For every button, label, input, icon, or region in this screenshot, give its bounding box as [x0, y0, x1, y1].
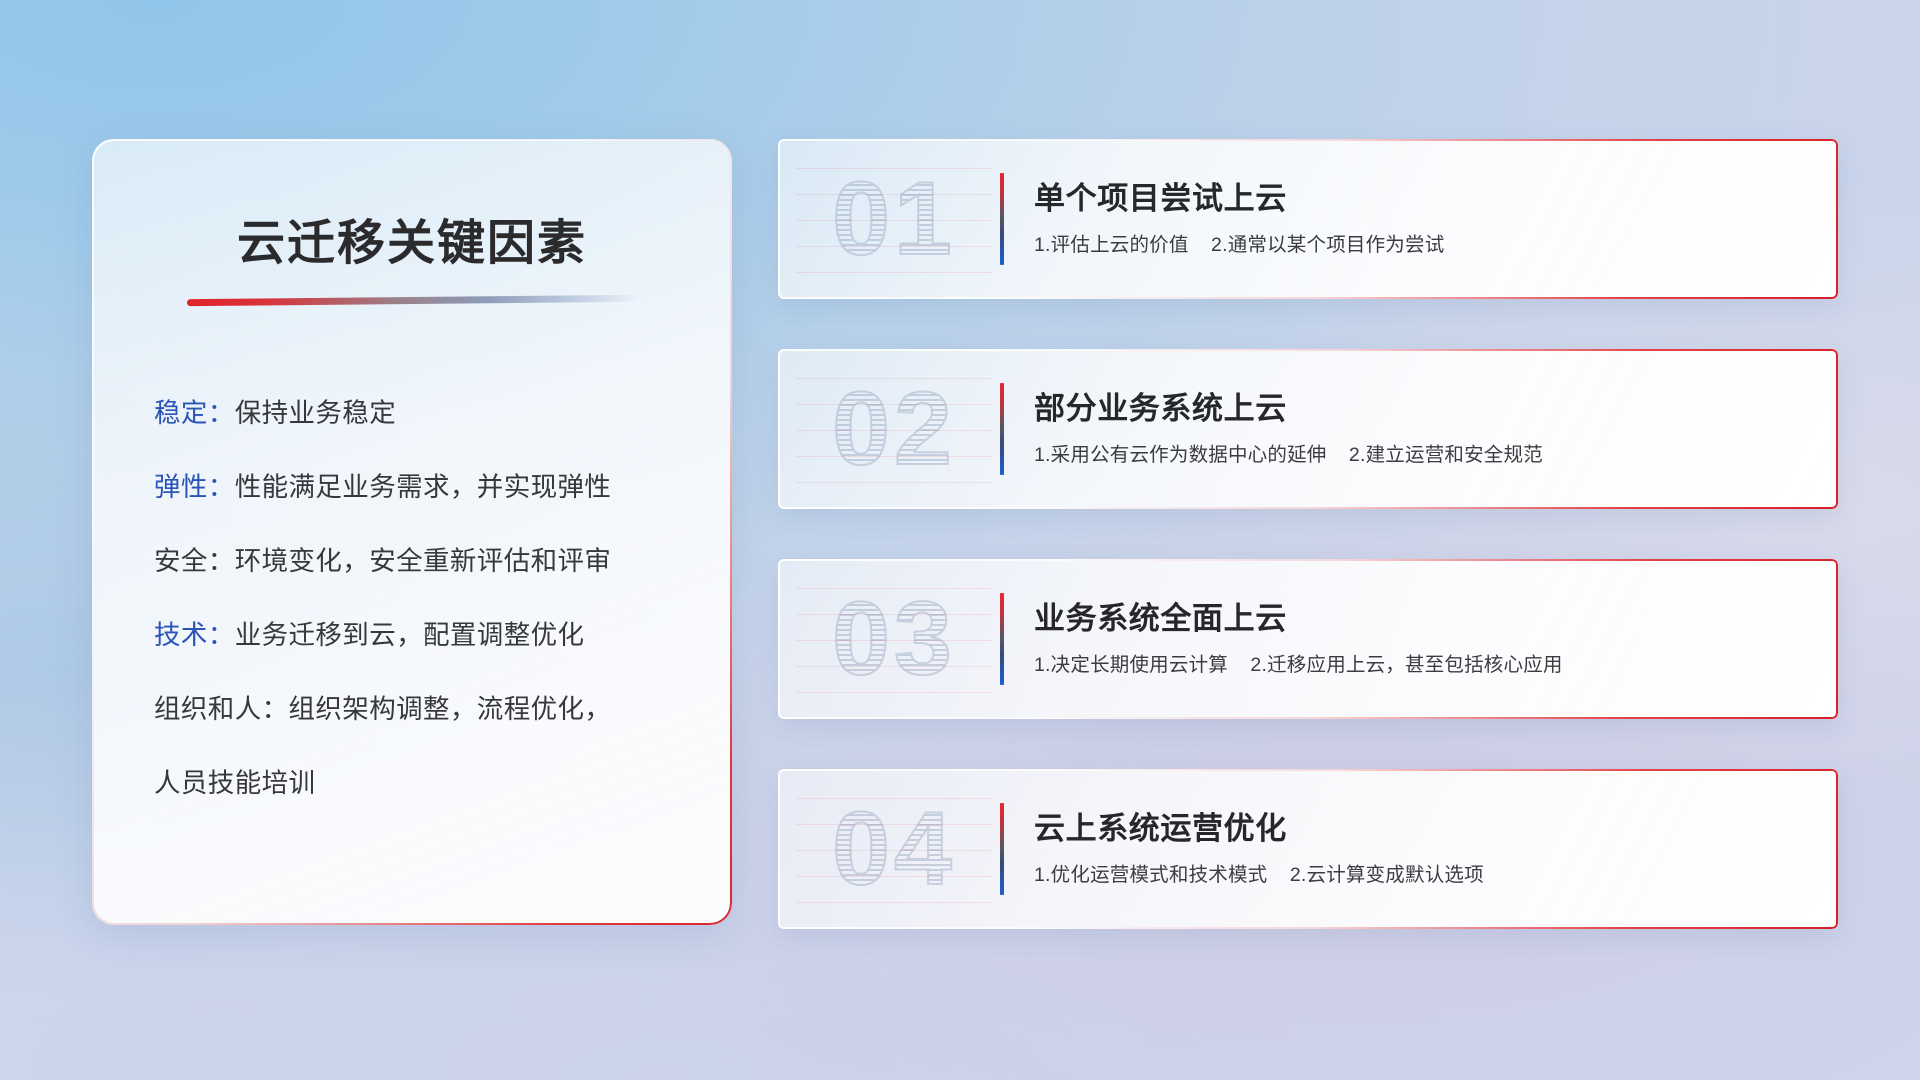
- key-factors-panel-inner: 云迁移关键因素 稳定：保持业务稳定弹性：性能满足业务需求，并实现弹性安全：环境变…: [92, 139, 732, 925]
- stage-card-description: 1.优化运营模式和技术模式 2.云计算变成默认选项: [1034, 863, 1814, 888]
- stage-number-text: 01: [832, 167, 956, 271]
- stage-accent-bar: [1000, 383, 1004, 475]
- stage-card-text: 单个项目尝试上云1.评估上云的价值 2.通常以某个项目作为尝试: [1034, 180, 1838, 258]
- key-factors-panel: 云迁移关键因素 稳定：保持业务稳定弹性：性能满足业务需求，并实现弹性安全：环境变…: [92, 139, 732, 925]
- stage-card-title: 云上系统运营优化: [1034, 810, 1814, 849]
- key-factor-item: 组织和人：组织架构调整，流程优化，: [154, 672, 686, 746]
- stage-card-description: 1.采用公有云作为数据中心的延伸 2.建立运营和安全规范: [1034, 443, 1814, 468]
- cloud-migration-stages-list: 01单个项目尝试上云1.评估上云的价值 2.通常以某个项目作为尝试02部分业务系…: [778, 139, 1838, 979]
- page-title: 云迁移关键因素: [138, 215, 686, 273]
- key-factor-item: 人员技能培训: [154, 746, 686, 820]
- key-factor-label: 安全：: [154, 546, 235, 576]
- stage-card-body: 03业务系统全面上云1.决定长期使用云计算 2.迁移应用上云，甚至包括核心应用: [778, 559, 1838, 719]
- key-factor-label: 稳定：: [154, 398, 235, 428]
- stage-card-body: 01单个项目尝试上云1.评估上云的价值 2.通常以某个项目作为尝试: [778, 139, 1838, 299]
- stage-number-watermark: 01: [796, 165, 992, 273]
- stage-card-description: 1.决定长期使用云计算 2.迁移应用上云，甚至包括核心应用: [1034, 653, 1814, 678]
- title-underline-accent: [187, 294, 637, 305]
- stage-number-watermark: 03: [796, 585, 992, 693]
- stage-card-title: 单个项目尝试上云: [1034, 180, 1814, 219]
- key-factor-text: 性能满足业务需求，并实现弹性: [235, 472, 612, 502]
- stage-number-text: 03: [832, 587, 956, 691]
- stage-card[interactable]: 01单个项目尝试上云1.评估上云的价值 2.通常以某个项目作为尝试: [778, 139, 1838, 299]
- stage-accent-bar: [1000, 173, 1004, 265]
- key-factor-text: 保持业务稳定: [235, 398, 396, 428]
- key-factor-item: 弹性：性能满足业务需求，并实现弹性: [154, 450, 686, 524]
- key-factor-item: 安全：环境变化，安全重新评估和评审: [154, 524, 686, 598]
- key-factor-item: 技术：业务迁移到云，配置调整优化: [154, 598, 686, 672]
- stage-card-body: 04云上系统运营优化1.优化运营模式和技术模式 2.云计算变成默认选项: [778, 769, 1838, 929]
- key-factor-label: 组织和人：: [154, 694, 289, 724]
- stage-card-text: 云上系统运营优化1.优化运营模式和技术模式 2.云计算变成默认选项: [1034, 810, 1838, 888]
- stage-number-watermark: 04: [796, 795, 992, 903]
- stage-card-text: 部分业务系统上云1.采用公有云作为数据中心的延伸 2.建立运营和安全规范: [1034, 390, 1838, 468]
- key-factors-list: 稳定：保持业务稳定弹性：性能满足业务需求，并实现弹性安全：环境变化，安全重新评估…: [138, 376, 686, 820]
- key-factor-text: 人员技能培训: [154, 768, 315, 798]
- stage-card-title: 部分业务系统上云: [1034, 390, 1814, 429]
- stage-number-text: 04: [832, 797, 956, 901]
- key-factor-item: 稳定：保持业务稳定: [154, 376, 686, 450]
- stage-card[interactable]: 02部分业务系统上云1.采用公有云作为数据中心的延伸 2.建立运营和安全规范: [778, 349, 1838, 509]
- key-factor-text: 组织架构调整，流程优化，: [289, 694, 612, 724]
- stage-card[interactable]: 03业务系统全面上云1.决定长期使用云计算 2.迁移应用上云，甚至包括核心应用: [778, 559, 1838, 719]
- stage-card-description: 1.评估上云的价值 2.通常以某个项目作为尝试: [1034, 233, 1814, 258]
- key-factor-label: 弹性：: [154, 472, 235, 502]
- stage-accent-bar: [1000, 593, 1004, 685]
- stage-number-watermark: 02: [796, 375, 992, 483]
- stage-number-text: 02: [832, 377, 956, 481]
- key-factor-label: 技术：: [154, 620, 235, 650]
- stage-accent-bar: [1000, 803, 1004, 895]
- key-factor-text: 环境变化，安全重新评估和评审: [235, 546, 612, 576]
- key-factor-text: 业务迁移到云，配置调整优化: [235, 620, 585, 650]
- stage-card-body: 02部分业务系统上云1.采用公有云作为数据中心的延伸 2.建立运营和安全规范: [778, 349, 1838, 509]
- stage-card-text: 业务系统全面上云1.决定长期使用云计算 2.迁移应用上云，甚至包括核心应用: [1034, 600, 1838, 678]
- stage-card[interactable]: 04云上系统运营优化1.优化运营模式和技术模式 2.云计算变成默认选项: [778, 769, 1838, 929]
- stage-card-title: 业务系统全面上云: [1034, 600, 1814, 639]
